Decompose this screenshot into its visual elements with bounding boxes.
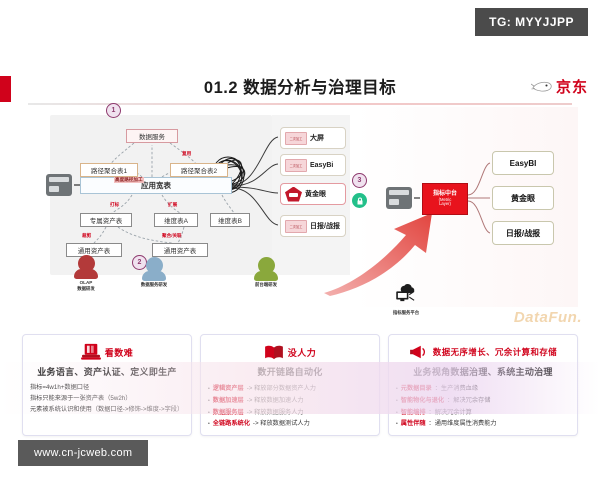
persona-olap: OLAP 数据研发 [58, 255, 114, 291]
bullet-text: -> 释放数据服务人力 [247, 407, 304, 419]
bullet-dot: • [396, 385, 398, 395]
book-icon [264, 344, 284, 360]
bullet-emphasis: 数据加速层 [213, 395, 244, 407]
app-card-easybi-label: EasyBi [310, 162, 333, 169]
card-header: 数据无序增长、冗余计算和存储 [396, 341, 570, 363]
app-card-goldeneye-label: 黄金眼 [305, 189, 326, 199]
app-card-screen[interactable]: 二次加工 大屏 [280, 127, 346, 149]
card-subtitle: 业务视角数据治理、系统主动治理 [396, 365, 570, 378]
source-database-icon [46, 174, 72, 196]
list-item: •逻辑资产层-> 释放部分数据资产人力 [208, 383, 372, 395]
persona-body [254, 271, 278, 281]
card-subtitle: 数开链路自动化 [208, 365, 372, 378]
list-item: •智能编排：解决冗余计算 [396, 407, 570, 419]
card-bullet-list: •元数据目录：生产消费血缘 •智能物化与退化：解决冗余存储 •智能编排：解决冗余… [396, 383, 570, 430]
growth-arrow-icon [322, 207, 442, 297]
bullet-dot: • [208, 385, 210, 395]
bullet-emphasis: 全链路系统化 [213, 418, 250, 430]
bullet-text: 指标只能来源于一张资产表（5w2h） [30, 395, 131, 402]
datafun-watermark: DataFun. [514, 309, 582, 326]
list-item: •数据加速层-> 释放数据加速人力 [208, 395, 372, 407]
megaphone-icon [409, 344, 429, 360]
edge-label-reuse: 复用 [182, 151, 191, 157]
metric-platform-box[interactable]: 指标中台 (Metric Layer) [422, 183, 468, 215]
node-path-agg-1[interactable]: 路径聚合表1 [80, 163, 138, 177]
node-exclusive-asset[interactable]: 专属资产表 [80, 213, 132, 227]
bullet-dot: • [396, 420, 398, 430]
app-card-easybi[interactable]: 二次加工 EasyBi [280, 154, 346, 176]
lock-icon [352, 193, 367, 208]
card-header: 没人力 [208, 341, 372, 363]
metric-service-platform: 指标服务平台 [390, 282, 422, 316]
jd-brand-name: 京东 [556, 76, 588, 97]
jd-dog-icon [531, 79, 553, 95]
node-dim-table-b[interactable]: 维度表B [210, 213, 250, 227]
bullet-emphasis: 数据服务层 [213, 407, 244, 419]
card-tag: 没人力 [288, 346, 317, 359]
bullet-emphasis: 逻辑资产层 [213, 383, 244, 395]
persona-dataservice-role: 数据服务研发 [141, 282, 167, 287]
bullet-dot: • [396, 409, 398, 419]
bullet-emphasis: 智能编排 [401, 407, 426, 419]
slide: 01.2 数据分析与治理目标 京东 [0, 62, 600, 414]
metric-service-platform-label: 指标服务平台 [390, 310, 422, 316]
laptop-icon [81, 343, 101, 361]
bullet-emphasis: 属性伴随 [401, 418, 426, 430]
jd-logo: 京东 [531, 76, 588, 97]
persona-body [142, 271, 166, 281]
footer-url: www.cn-jcweb.com [18, 440, 148, 466]
target-card-goldeneye[interactable]: 黄金眼 [492, 186, 554, 210]
list-item: 元素被系统认识和使用（数据口径->修饰->维度->字段） [30, 405, 184, 416]
second-processing-chip: 二次加工 [285, 132, 307, 145]
list-item: 指标只能来源于一张资产表（5w2h） [30, 394, 184, 405]
page-title: 01.2 数据分析与治理目标 [0, 74, 600, 98]
bullet-emphasis: 元数据目录 [401, 383, 432, 395]
persona-frontend-label: 前台端研发 [238, 282, 294, 288]
card-tag: 数据无序增长、冗余计算和存储 [433, 346, 557, 358]
bullet-text: -> 释放部分数据资产人力 [247, 383, 316, 395]
persona-frontend: 前台端研发 [238, 257, 294, 288]
persona-body [74, 269, 98, 279]
node-common-asset-2[interactable]: 通用资产表 [152, 243, 208, 257]
node-app-wide-table[interactable]: 应用宽表 [80, 177, 232, 194]
list-item: •全链路系统化-> 释放数据测试人力 [208, 418, 372, 430]
card-hard-to-find[interactable]: 看数难 业务语言、资产认证、定义即生产 指标=4w1h+数据口径 指标只能来源于… [22, 334, 192, 436]
bullet-text: -> 释放数据测试人力 [253, 418, 310, 430]
card-header: 看数难 [30, 341, 184, 363]
list-item: •数据服务层-> 释放数据服务人力 [208, 407, 372, 419]
bullet-text: 元素被系统认识和使用（数据口径->修饰->维度->字段） [30, 406, 183, 413]
bullet-dot: • [396, 397, 398, 407]
persona-dataservice-label: 数据服务研发 [126, 282, 182, 288]
list-item: 指标=4w1h+数据口径 [30, 383, 184, 394]
persona-olap-label: OLAP 数据研发 [58, 280, 114, 291]
bullet-dot: • [208, 420, 210, 430]
bullet-text: ：解决冗余计算 [429, 407, 472, 419]
second-processing-chip: 二次加工 [285, 159, 307, 172]
app-card-screen-label: 大屏 [310, 133, 324, 143]
edge-label-flatten: 打标 [110, 202, 119, 208]
list-item: •元数据目录：生产消费血缘 [396, 383, 570, 395]
edge-label-split: 裁剪 [82, 233, 91, 239]
persona-frontend-role: 前台端研发 [255, 282, 277, 287]
step-marker-3: 3 [352, 173, 367, 188]
architecture-diagram: 数据服务 路径聚合表1 路径聚合表2 应用宽表 专属资产表 维度表A 维度表B … [22, 107, 578, 307]
target-card-easybi[interactable]: EasyBI [492, 151, 554, 175]
list-item: •属性伴随：通用维度属性消费能力 [396, 418, 570, 430]
edge-label-expand: 扩展 [168, 202, 177, 208]
node-path-agg-2[interactable]: 路径聚合表2 [170, 163, 228, 177]
card-subtitle: 业务语言、资产认证、定义即生产 [30, 365, 184, 378]
bullet-text: -> 释放数据加速人力 [247, 395, 304, 407]
persona-dataservice: 数据服务研发 [126, 257, 182, 288]
card-tag: 看数难 [105, 346, 134, 359]
pentagon-icon [285, 187, 302, 202]
cloud-monitor-icon [393, 282, 419, 304]
bullet-emphasis: 智能物化与退化 [401, 395, 444, 407]
card-bullet-list: •逻辑资产层-> 释放部分数据资产人力 •数据加速层-> 释放数据加速人力 •数… [208, 383, 372, 430]
metric-platform-sub2: Layer) [439, 202, 451, 207]
bullet-text: ：通用维度属性消费能力 [429, 418, 497, 430]
bullet-text: ：解决冗余存储 [447, 395, 490, 407]
second-processing-chip: 二次加工 [285, 220, 307, 233]
app-card-goldeneye[interactable]: 黄金眼 [280, 183, 346, 205]
target-card-report[interactable]: 日报/战报 [492, 221, 554, 245]
bullet-text: 指标=4w1h+数据口径 [30, 384, 89, 391]
card-bullet-list: 指标=4w1h+数据口径 指标只能来源于一张资产表（5w2h） 元素被系统认识和… [30, 383, 184, 416]
card-data-growth[interactable]: 数据无序增长、冗余计算和存储 业务视角数据治理、系统主动治理 •元数据目录：生产… [388, 334, 578, 436]
edge-label-join: 聚合/关联 [162, 233, 182, 239]
bullet-text: ：生产消费血缘 [435, 383, 478, 395]
step-marker-1: 1 [106, 103, 121, 118]
metric-database-icon [386, 187, 412, 209]
node-data-service[interactable]: 数据服务 [126, 129, 178, 143]
tg-badge: TG: MYYJJPP [475, 8, 588, 36]
node-dim-table-a[interactable]: 维度表A [154, 213, 198, 227]
bullet-dot: • [208, 409, 210, 419]
bullet-dot: • [208, 397, 210, 407]
list-item: •智能物化与退化：解决冗余存储 [396, 395, 570, 407]
card-no-manpower[interactable]: 没人力 数开链路自动化 •逻辑资产层-> 释放部分数据资产人力 •数据加速层->… [200, 334, 380, 436]
summary-cards: 看数难 业务语言、资产认证、定义即生产 指标=4w1h+数据口径 指标只能来源于… [22, 334, 578, 442]
persona-olap-role: 数据研发 [77, 286, 95, 291]
edge-label-path-process: 高度路径加工 [114, 177, 144, 183]
